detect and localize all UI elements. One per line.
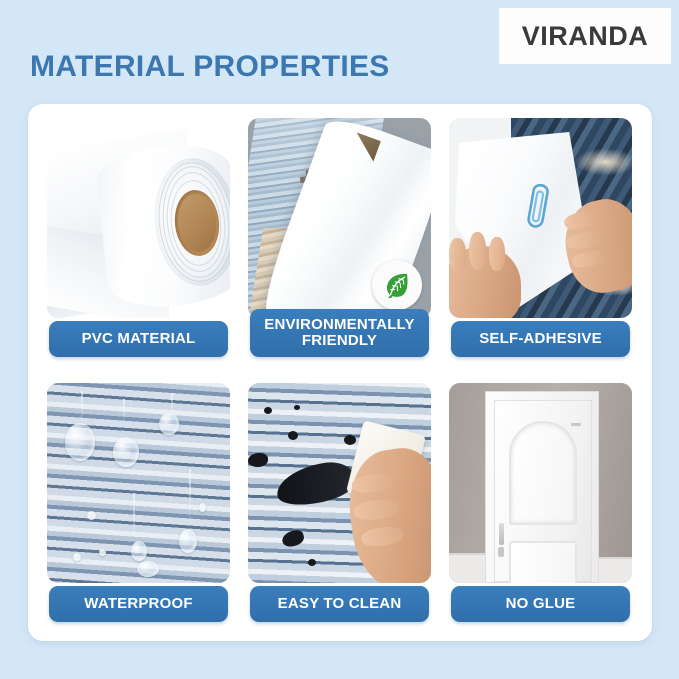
feature-label-no-glue: NO GLUE [451,586,630,622]
brand-name: VIRANDA [522,21,649,52]
feature-label-pvc-material: PVC MATERIAL [49,321,228,357]
feature-cell-no-glue: NO GLUE [449,383,632,628]
door-frame [485,391,599,583]
door [494,400,592,582]
infographic-page: VIRANDA MATERIAL PROPERTIES [0,0,679,679]
feature-image-waterproof [47,383,230,583]
feature-label-self-adhesive: SELF-ADHESIVE [451,321,630,357]
feature-label-waterproof: WATERPROOF [49,586,228,622]
features-card: PVC MATERIAL [28,104,652,641]
door-handle-icon [499,523,504,545]
leaf-icon [381,269,413,301]
feature-cell-waterproof: WATERPROOF [47,383,230,628]
feature-cell-self-adhesive: SELF-ADHESIVE [449,118,632,363]
page-title: MATERIAL PROPERTIES [30,50,390,84]
feature-image-pvc-material [47,118,230,318]
feature-image-easy-to-clean [248,383,431,583]
brand-logo-box: VIRANDA [499,8,671,64]
features-grid: PVC MATERIAL [47,118,633,628]
feature-image-self-adhesive [449,118,632,318]
feature-image-no-glue [449,383,632,583]
feature-cell-environmentally-friendly: ENVIRONMENTALLYFRIENDLY [248,118,431,363]
feature-cell-easy-to-clean: EASY TO CLEAN [248,383,431,628]
feature-label-easy-to-clean: EASY TO CLEAN [250,586,429,622]
feature-label-environmentally-friendly: ENVIRONMENTALLYFRIENDLY [250,309,429,357]
feature-image-environmentally-friendly [248,118,431,318]
eco-badge [372,260,422,310]
feature-cell-pvc-material: PVC MATERIAL [47,118,230,363]
